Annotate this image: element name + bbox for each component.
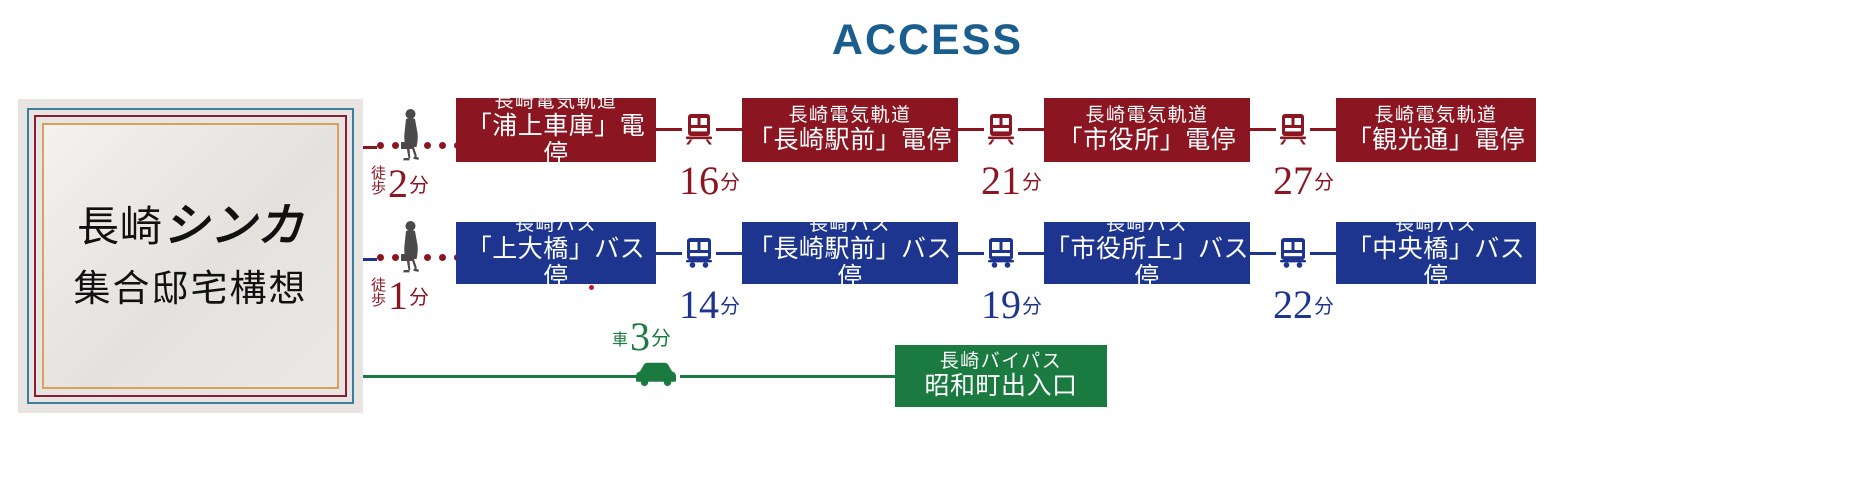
tram-station-4-operator: 長崎電気軌道	[1374, 105, 1497, 126]
bus-stop-3-operator: 長崎バス	[1106, 214, 1188, 235]
car-line-left	[363, 375, 637, 378]
tram-leg-1-line-left	[656, 128, 682, 131]
bus-stop-3-name: 「市役所上」バス停	[1044, 236, 1250, 292]
bus-leg-3-minutes: 22	[1273, 287, 1313, 322]
bus-stub-line	[363, 258, 377, 261]
bus-leg-2-unit: 分	[1022, 290, 1042, 322]
bus-leg-1-line-left	[656, 252, 682, 255]
bus-leg-1-minutes: 14	[679, 287, 719, 322]
bus-leg-3-line-left	[1250, 252, 1276, 255]
bus-icon	[682, 236, 716, 275]
tram-leg-2-time: 21 分	[981, 163, 1042, 198]
tram-leg-1-minutes: 16	[679, 163, 719, 198]
tram-walk-prefix: 徒 歩	[371, 167, 386, 201]
bus-stop-4-operator: 長崎バス	[1395, 214, 1477, 235]
bus-stop-3[interactable]: 長崎バス 「市役所上」バス停	[1044, 222, 1250, 284]
bus-leg-2-time: 19 分	[981, 287, 1042, 322]
tram-leg-1-line-right	[716, 128, 742, 131]
tram-leg-1-unit: 分	[720, 166, 740, 198]
project-logo-panel: 長崎シンカ 集合邸宅構想	[18, 99, 363, 413]
tram-icon	[984, 112, 1018, 151]
tram-leg-3-minutes: 27	[1273, 163, 1313, 198]
tram-walk-unit: 分	[409, 169, 429, 201]
tram-station-4-name: 「観光通」電停	[1347, 127, 1526, 155]
logo-kana: シンカ	[163, 200, 304, 251]
bus-leg-1-line-right	[716, 252, 742, 255]
bus-icon	[1276, 236, 1310, 275]
tram-leg-2-minutes: 21	[981, 163, 1021, 198]
logo-title-line1: 長崎シンカ	[77, 200, 304, 253]
bus-leg-3-unit: 分	[1314, 290, 1334, 322]
logo-kanji: 長崎	[77, 205, 163, 251]
tram-station-3-name: 「市役所」電停	[1058, 127, 1237, 155]
tram-station-1[interactable]: 長崎電気軌道 「浦上車庫」電停	[456, 98, 656, 162]
bus-leg-3-time: 22 分	[1273, 287, 1334, 322]
tram-leg-3-line-right	[1310, 128, 1336, 131]
bus-stop-2[interactable]: 長崎バス 「長崎駅前」バス停	[742, 222, 958, 284]
car-destination-name: 昭和町出入口	[924, 373, 1077, 401]
bus-leg-1-unit: 分	[720, 290, 740, 322]
bus-leg-1-time: 14 分	[679, 287, 740, 322]
car-leg-unit: 分	[651, 322, 671, 354]
logo-border-middle: 長崎シンカ 集合邸宅構想	[34, 115, 347, 397]
tram-icon	[1276, 112, 1310, 151]
car-line-right	[680, 375, 895, 378]
tram-station-1-operator: 長崎電気軌道	[494, 91, 617, 112]
car-leg-minutes: 3	[630, 319, 650, 354]
bus-stop-2-operator: 長崎バス	[809, 214, 891, 235]
tram-station-3[interactable]: 長崎電気軌道 「市役所」電停	[1044, 98, 1250, 162]
logo-border-outer: 長崎シンカ 集合邸宅構想	[27, 108, 354, 404]
bus-leg-3-line-right	[1310, 252, 1336, 255]
bus-stop-1-operator: 長崎バス	[515, 214, 597, 235]
car-destination-operator: 長崎バイパス	[940, 351, 1063, 372]
page-title: ACCESS	[0, 16, 1855, 65]
bus-walk-time: 徒 歩 1 分	[371, 278, 429, 313]
tram-leg-2-line-left	[958, 128, 984, 131]
tram-station-2-name: 「長崎駅前」電停	[748, 127, 952, 155]
bus-stop-2-name: 「長崎駅前」バス停	[742, 236, 958, 292]
bus-walk-minutes: 1	[388, 278, 408, 313]
tram-stub-line	[363, 146, 377, 149]
tram-icon	[682, 112, 716, 151]
bus-walk-prefix: 徒 歩	[371, 279, 386, 313]
car-leg-prefix: 車	[612, 333, 628, 354]
tram-leg-2-line-right	[1018, 128, 1044, 131]
car-icon	[632, 358, 680, 393]
tram-leg-2-unit: 分	[1022, 166, 1042, 198]
tram-station-3-operator: 長崎電気軌道	[1085, 105, 1208, 126]
bus-stop-1-name: 「上大橋」バス停	[456, 236, 656, 292]
bus-leg-2-line-left	[958, 252, 984, 255]
marker-dot	[589, 285, 594, 290]
logo-border-inner: 長崎シンカ 集合邸宅構想	[42, 123, 339, 389]
bus-stop-4[interactable]: 長崎バス 「中央橋」バス停	[1336, 222, 1536, 284]
tram-leg-3-unit: 分	[1314, 166, 1334, 198]
logo-title-line2: 集合邸宅構想	[74, 258, 308, 312]
bus-walk-unit: 分	[409, 281, 429, 313]
tram-leg-3-time: 27 分	[1273, 163, 1334, 198]
bus-stop-4-name: 「中央橋」バス停	[1336, 236, 1536, 292]
bus-leg-2-line-right	[1018, 252, 1044, 255]
access-diagram: ACCESS 長崎シンカ 集合邸宅構想	[0, 0, 1855, 504]
tram-leg-1-time: 16 分	[679, 163, 740, 198]
bus-icon	[984, 236, 1018, 275]
car-destination[interactable]: 長崎バイパス 昭和町出入口	[895, 345, 1107, 407]
tram-walk-time: 徒 歩 2 分	[371, 166, 429, 201]
bus-stop-1[interactable]: 長崎バス 「上大橋」バス停	[456, 222, 656, 284]
tram-station-2-operator: 長崎電気軌道	[788, 105, 911, 126]
bus-leg-2-minutes: 19	[981, 287, 1021, 322]
tram-walk-minutes: 2	[388, 166, 408, 201]
tram-leg-3-line-left	[1250, 128, 1276, 131]
car-leg-time: 車 3 分	[612, 319, 671, 354]
tram-station-1-name: 「浦上車庫」電停	[456, 113, 656, 169]
tram-station-2[interactable]: 長崎電気軌道 「長崎駅前」電停	[742, 98, 958, 162]
tram-station-4[interactable]: 長崎電気軌道 「観光通」電停	[1336, 98, 1536, 162]
